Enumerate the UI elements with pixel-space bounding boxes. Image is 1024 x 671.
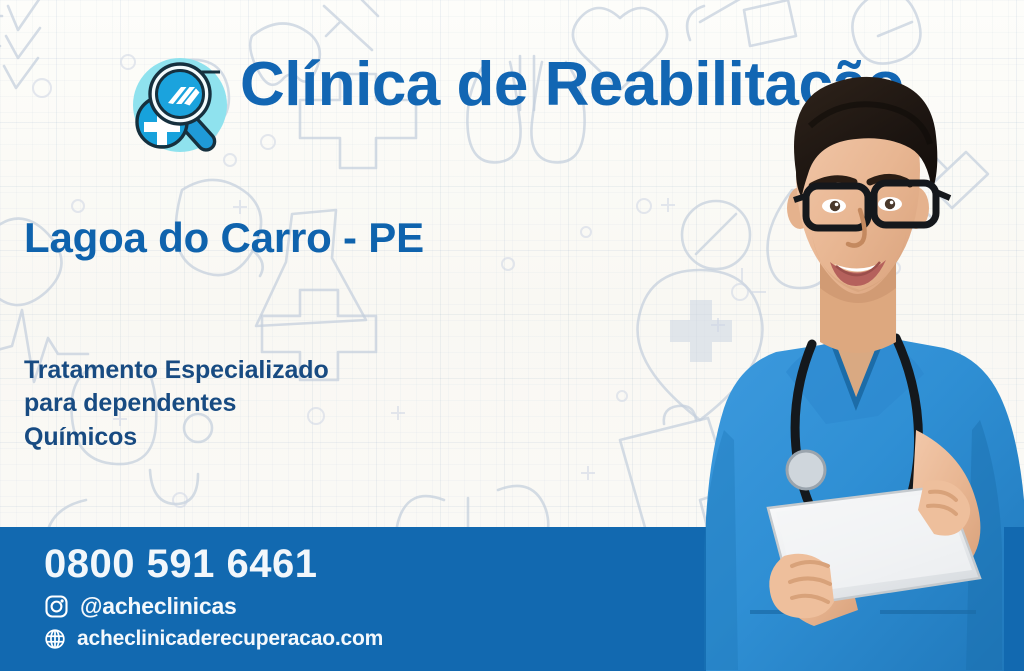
phone-number[interactable]: 0800 591 6461: [44, 543, 660, 586]
doodle-syringe-icon: [324, 0, 378, 50]
footer-contact-block: 0800 591 6461 @acheclinicas acheclinicad…: [0, 527, 660, 671]
website-url: acheclinicaderecuperacao.com: [77, 627, 383, 651]
doodle-clipboard-icon: [0, 0, 40, 88]
clinic-logo: [122, 50, 234, 160]
pitch-line-1: Tratamento Especializado: [24, 354, 329, 387]
globe-icon: [44, 628, 66, 650]
doctor-photo: [684, 0, 1024, 671]
magnifier-plus-icon: [133, 58, 227, 153]
pitch-line-2: para dependentes: [24, 387, 329, 420]
instagram-contact[interactable]: @acheclinicas: [44, 593, 660, 620]
location-label: Lagoa do Carro - PE: [24, 214, 424, 262]
website-contact[interactable]: acheclinicaderecuperacao.com: [44, 627, 660, 651]
clinic-banner: Clínica de Reabilitação Lagoa do Carro -…: [0, 0, 1024, 671]
instagram-icon: [44, 594, 69, 619]
instagram-handle: @acheclinicas: [80, 593, 237, 620]
pitch-line-3: Químicos: [24, 421, 329, 454]
pitch-text: Tratamento Especializado para dependente…: [24, 354, 329, 454]
